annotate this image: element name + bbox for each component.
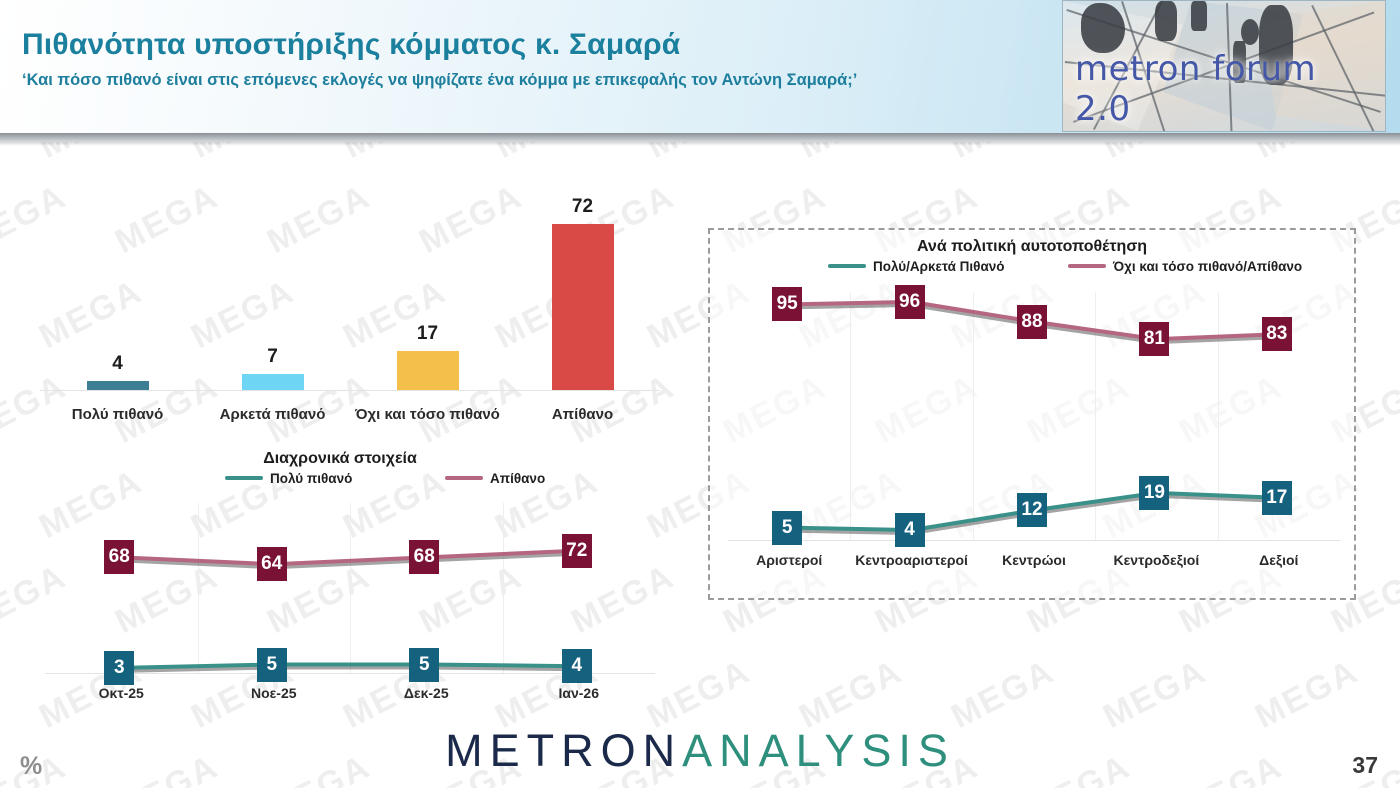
header-divider-shadow [0, 142, 1400, 146]
data-label-s0-4: 17 [1262, 481, 1292, 515]
bar-0 [87, 381, 149, 390]
chart-category-label-2: Κεντρώοι [973, 552, 1095, 568]
data-label-s1-4: 83 [1262, 317, 1292, 351]
bar-category-label-2: Όχι και τόσο πιθανό [350, 406, 505, 423]
bar-1 [242, 374, 304, 390]
bar-3 [552, 224, 614, 391]
bar-value-0: 4 [73, 353, 163, 375]
data-label-s0-0: 3 [104, 651, 134, 685]
line-chart-timeseries: Διαχρονικά στοιχείαΠολύ πιθανόΑπίθανο355… [0, 445, 680, 720]
page-title: Πιθανότητα υποστήριξης κόμματος κ. Σαμαρ… [22, 28, 1032, 62]
data-label-s1-3: 72 [562, 534, 592, 568]
chart-category-label-4: Δεξιοί [1218, 552, 1340, 568]
data-label-s0-2: 5 [409, 648, 439, 682]
data-label-s1-2: 88 [1017, 305, 1047, 339]
bar-category-label-0: Πολύ πιθανό [40, 406, 195, 423]
chart-lines [710, 230, 1358, 602]
data-label-s1-1: 64 [257, 547, 287, 581]
chart-category-label-2: Δεκ-25 [350, 685, 503, 701]
logo-climber [1081, 3, 1125, 53]
data-label-s1-1: 96 [895, 285, 925, 319]
bar-category-label-3: Απίθανο [505, 406, 660, 423]
bar-chart-overall: 4Πολύ πιθανό7Αρκετά πιθανό17Όχι και τόσο… [0, 150, 680, 440]
wordmark-metron: METRON [445, 725, 682, 776]
data-label-s0-1: 4 [895, 513, 925, 547]
logo-climber [1155, 1, 1177, 41]
header-divider [0, 133, 1400, 142]
data-label-s0-3: 19 [1139, 476, 1169, 510]
chart-category-label-3: Κεντροδεξιοί [1095, 552, 1217, 568]
data-label-s0-2: 12 [1017, 493, 1047, 527]
chart-category-label-0: Οκτ-25 [45, 685, 198, 701]
page-subtitle: ‘Και πόσο πιθανό είναι στις επόμενες εκλ… [22, 68, 977, 93]
bar-value-2: 17 [383, 323, 473, 345]
data-label-s0-0: 5 [772, 511, 802, 545]
bar-2 [397, 351, 459, 390]
metron-analysis-wordmark: METRONANALYSIS [0, 725, 1400, 777]
data-label-s1-2: 68 [409, 540, 439, 574]
wordmark-analysis: ANALYSIS [682, 725, 955, 776]
data-label-s1-0: 95 [772, 287, 802, 321]
chart-category-label-1: Νοε-25 [198, 685, 351, 701]
logo-wordmark: metron forum 2.0 [1075, 49, 1375, 129]
bar-value-3: 72 [538, 196, 628, 218]
data-label-s1-3: 81 [1139, 322, 1169, 356]
bar-axis-line [40, 390, 660, 391]
metron-forum-logo: metron forum 2.0 [1062, 0, 1386, 132]
bar-value-1: 7 [228, 346, 318, 368]
chart-category-label-1: Κεντροαριστεροί [850, 552, 972, 568]
data-label-s0-3: 4 [562, 649, 592, 683]
page-number: 37 [1352, 752, 1378, 779]
data-label-s0-1: 5 [257, 648, 287, 682]
bar-category-label-1: Αρκετά πιθανό [195, 406, 350, 423]
chart-category-label-0: Αριστεροί [728, 552, 850, 568]
data-label-s1-0: 68 [104, 540, 134, 574]
line-chart-political-selfplacement-panel: Ανά πολιτική αυτοτοποθέτησηΠολύ/Αρκετά Π… [708, 228, 1356, 600]
logo-climber [1191, 1, 1207, 31]
chart-category-label-3: Ιαν-26 [503, 685, 656, 701]
